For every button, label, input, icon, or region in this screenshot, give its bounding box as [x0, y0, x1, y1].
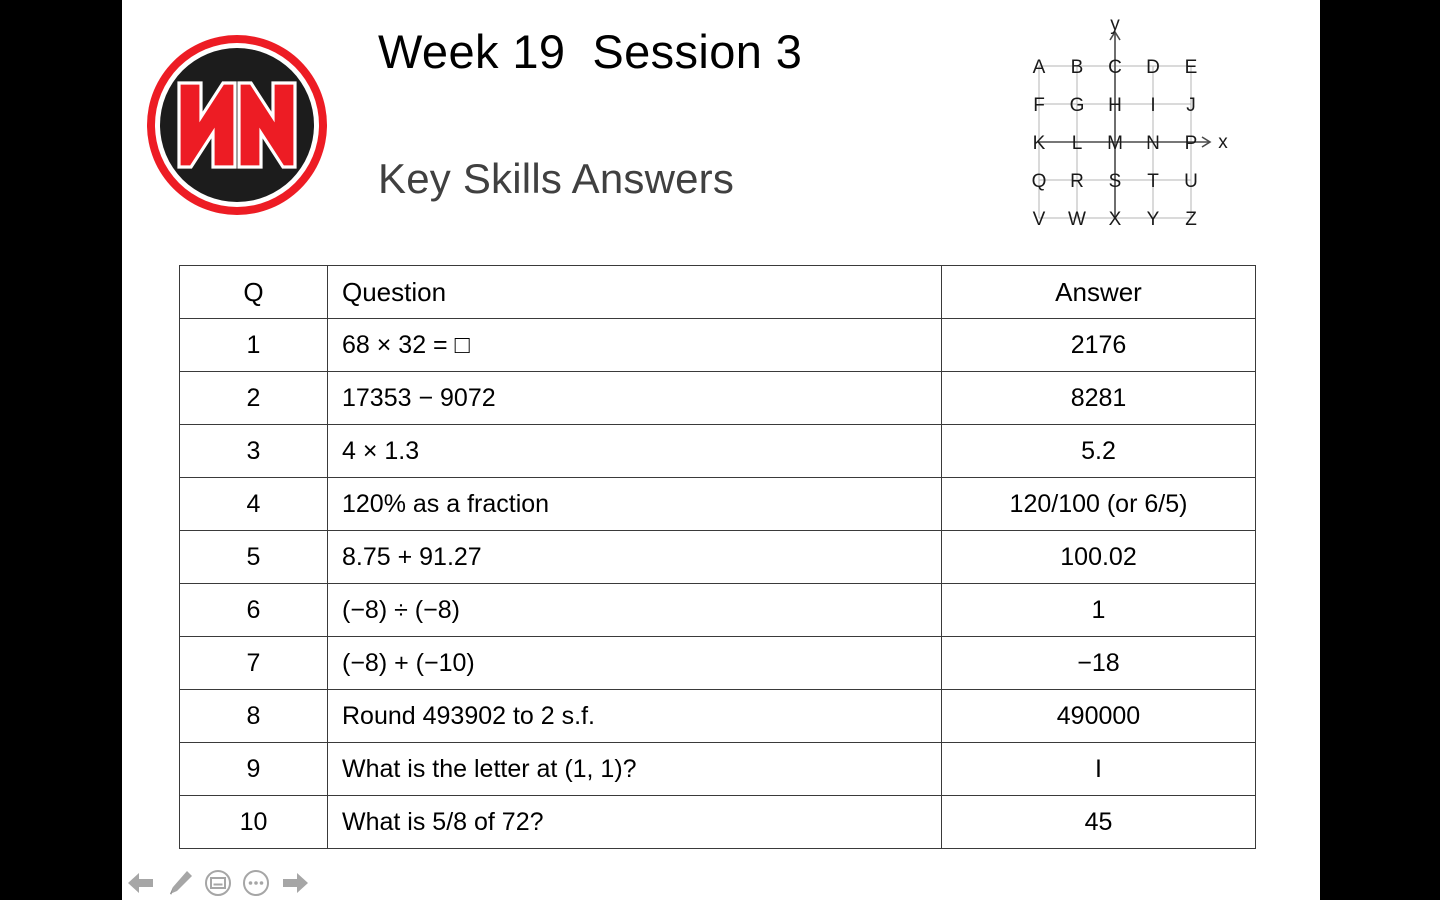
grid-letter: E: [1185, 57, 1198, 78]
cell-question: What is the letter at (1, 1)?: [328, 743, 942, 796]
grid-letter: Q: [1032, 171, 1047, 192]
next-slide-icon[interactable]: [280, 870, 310, 896]
cell-q: 8: [180, 690, 328, 743]
nn-letters-icon: [175, 77, 299, 173]
cell-question: 68 × 32 = □: [328, 319, 942, 372]
grid-letter: K: [1033, 133, 1046, 154]
cell-q: 9: [180, 743, 328, 796]
grid-letter: V: [1033, 209, 1046, 230]
cell-answer: 5.2: [942, 425, 1256, 478]
header-answer: Answer: [942, 266, 1256, 319]
cell-answer: 1: [942, 584, 1256, 637]
cell-answer: 100.02: [942, 531, 1256, 584]
grid-letter: M: [1107, 133, 1123, 154]
more-options-icon[interactable]: [242, 869, 270, 897]
x-axis-label: x: [1218, 132, 1228, 153]
slide-view-icon[interactable]: [204, 869, 232, 897]
table-row: 8 Round 493902 to 2 s.f. 490000: [180, 690, 1256, 743]
cell-question: 120% as a fraction: [328, 478, 942, 531]
grid-letter: R: [1070, 171, 1084, 192]
table-header-row: Q Question Answer: [180, 266, 1256, 319]
grid-letter: S: [1109, 171, 1122, 192]
grid-letter: L: [1072, 133, 1083, 154]
table-row: 6 (−8) ÷ (−8) 1: [180, 584, 1256, 637]
letterbox-right: [1320, 0, 1440, 900]
previous-slide-icon[interactable]: [126, 870, 156, 896]
slideshow-toolbar: [122, 866, 310, 900]
y-axis-label: y: [1110, 18, 1120, 35]
grid-letter: N: [1146, 133, 1160, 154]
cell-answer: 490000: [942, 690, 1256, 743]
grid-letter: B: [1071, 57, 1084, 78]
grid-letter: H: [1108, 95, 1122, 116]
header-q: Q: [180, 266, 328, 319]
logo-disc: [160, 48, 314, 202]
table-row: 3 4 × 1.3 5.2: [180, 425, 1256, 478]
grid-letter: F: [1033, 95, 1045, 116]
cell-question: What is 5/8 of 72?: [328, 796, 942, 849]
cell-q: 1: [180, 319, 328, 372]
page-title: Week 19 Session 3: [378, 25, 802, 79]
cell-q: 2: [180, 372, 328, 425]
table-row: 5 8.75 + 91.27 100.02: [180, 531, 1256, 584]
pen-icon[interactable]: [166, 869, 194, 897]
cell-q: 6: [180, 584, 328, 637]
cell-question: 4 × 1.3: [328, 425, 942, 478]
cell-answer: 8281: [942, 372, 1256, 425]
cell-q: 3: [180, 425, 328, 478]
grid-letter: C: [1108, 57, 1122, 78]
grid-letter: U: [1184, 171, 1198, 192]
cell-q: 10: [180, 796, 328, 849]
cell-q: 5: [180, 531, 328, 584]
grid-letter: P: [1185, 133, 1198, 154]
table-row: 10 What is 5/8 of 72? 45: [180, 796, 1256, 849]
cell-answer: −18: [942, 637, 1256, 690]
slide-canvas: Week 19 Session 3 Key Skills Answers: [122, 0, 1320, 900]
table-row: 1 68 × 32 = □ 2176: [180, 319, 1256, 372]
cell-answer: 2176: [942, 319, 1256, 372]
table-row: 2 17353 − 9072 8281: [180, 372, 1256, 425]
nn-logo: [147, 35, 327, 215]
grid-letter: J: [1186, 95, 1196, 116]
cell-q: 7: [180, 637, 328, 690]
page-subtitle: Key Skills Answers: [378, 155, 734, 203]
table-row: 7 (−8) + (−10) −18: [180, 637, 1256, 690]
cell-answer: 120/100 (or 6/5): [942, 478, 1256, 531]
cell-question: (−8) ÷ (−8): [328, 584, 942, 637]
table-row: 9 What is the letter at (1, 1)? I: [180, 743, 1256, 796]
logo-inner-ring: [155, 43, 319, 207]
grid-letter: A: [1033, 57, 1046, 78]
cell-answer: 45: [942, 796, 1256, 849]
header-question: Question: [328, 266, 942, 319]
cell-question: (−8) + (−10): [328, 637, 942, 690]
cell-question: 8.75 + 91.27: [328, 531, 942, 584]
letterbox-left: [0, 0, 122, 900]
grid-letter: Z: [1185, 209, 1197, 230]
cell-question: Round 493902 to 2 s.f.: [328, 690, 942, 743]
grid-letter: X: [1109, 209, 1122, 230]
grid-letter: I: [1150, 95, 1155, 116]
grid-letter: Y: [1147, 209, 1160, 230]
cell-q: 4: [180, 478, 328, 531]
grid-letter: T: [1147, 171, 1159, 192]
slide-stage: Week 19 Session 3 Key Skills Answers: [0, 0, 1440, 900]
grid-letter: G: [1070, 95, 1085, 116]
key-skills-table: Q Question Answer 1 68 × 32 = □ 2176 2 1…: [179, 265, 1256, 849]
table-row: 4 120% as a fraction 120/100 (or 6/5): [180, 478, 1256, 531]
cell-question: 17353 − 9072: [328, 372, 942, 425]
grid-letter: D: [1146, 57, 1160, 78]
cell-answer: I: [942, 743, 1256, 796]
letter-coordinate-grid: A B C D E F G H I J K L M N P: [1027, 18, 1242, 233]
grid-letter: W: [1068, 209, 1086, 230]
